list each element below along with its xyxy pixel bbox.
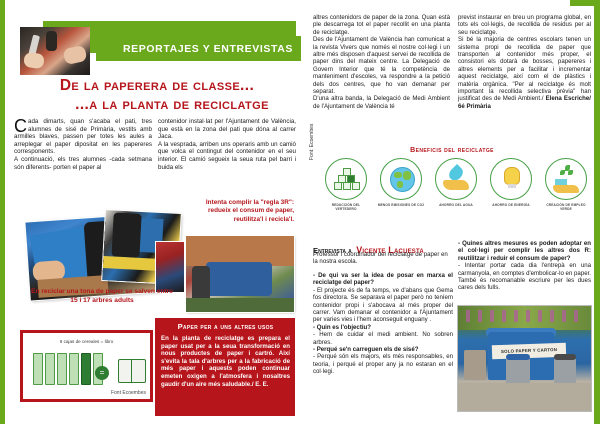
article-column-3: altres contenidors de paper de la zona. … xyxy=(313,14,450,110)
bulb-shape xyxy=(504,167,520,185)
waste-bin-shape xyxy=(506,358,530,384)
interview-question: - Quines altres mesures es poden adoptar… xyxy=(458,240,591,262)
leaf-shape xyxy=(568,170,573,175)
title-line-2: ...a la planta de reciclatge xyxy=(52,95,292,114)
red-box-title: Paper per a uns altres usos xyxy=(161,322,290,331)
article-col2-p1: contenidor instal·lat per l'Ajuntament d… xyxy=(158,118,296,141)
infographic-label: AHORRO DE ENERGÍA xyxy=(487,203,535,207)
plant-shape xyxy=(560,165,573,179)
photo-paper-container xyxy=(186,236,294,312)
crate-icon xyxy=(352,182,360,190)
hand-shape-2 xyxy=(23,52,45,70)
landfill-stack-icon xyxy=(325,158,367,200)
article-column-2: contenidor instal·lat per l'Ajuntament d… xyxy=(158,118,296,171)
red-info-box: Paper per a uns altres usos En la planta… xyxy=(155,318,295,416)
infographic-item: MENOS EMISIONES DE CO2 xyxy=(377,158,425,207)
infographic-item: AHORRO DEL AGUA xyxy=(432,158,480,207)
hand-shape xyxy=(553,185,579,193)
photo-caption: En reciclar una tona de paper se salven … xyxy=(28,287,176,305)
cereal-box-icon xyxy=(45,353,55,385)
page-title: De la paperera de classe... ...a la plan… xyxy=(22,76,292,114)
article-column-1: Cada dimarts, quan s'acaba el pati, tres… xyxy=(14,118,152,171)
infographic-label: MENOS EMISIONES DE CO2 xyxy=(377,203,425,207)
interview-answer: - El projecte és de fa temps, ve d'abans… xyxy=(313,287,453,324)
article-col3-p1: altres contenidors de paper de la zona. … xyxy=(313,14,450,36)
water-drop-hand-icon xyxy=(435,158,477,200)
globe-icon xyxy=(380,158,422,200)
plant-hand-icon xyxy=(545,158,587,200)
infographic-source: Font: Ecoembes xyxy=(309,102,315,160)
interview-subtitle: Professor i coordinador del reciclatge d… xyxy=(313,251,453,266)
article-col3-p2: Des de l'Ajuntament de València han comu… xyxy=(313,36,450,95)
infographic-items: REDUCCIÓN DEL VERTEDERO MENOS EMISIONES … xyxy=(322,158,590,220)
article-paragraph: Cada dimarts, quan s'acaba el pati, tres… xyxy=(14,118,152,156)
infographic-item: REDUCCIÓN DEL VERTEDERO xyxy=(322,158,370,211)
title-line-1: De la paperera de classe... xyxy=(22,76,292,95)
stack-shape xyxy=(334,168,358,190)
interview-question: - Perqué se'n carreguen els de sisé? xyxy=(313,346,453,353)
hand-shape xyxy=(63,45,88,65)
interview-question: - De qui va ser la idea de posar en marx… xyxy=(313,272,453,287)
cereal-box-icon xyxy=(69,353,79,385)
interview-qa-left: - De qui va ser la idea de posar en marx… xyxy=(313,272,453,376)
infographic-label: CREACIÓN DE EMPLEO VERDE xyxy=(542,203,590,211)
infographic-label: REDUCCIÓN DEL VERTEDERO xyxy=(322,203,370,211)
infographic-title: Beneficis del reciclatge xyxy=(313,147,591,154)
book-icon xyxy=(118,359,146,381)
infographic-label: AHORRO DEL AGUA xyxy=(432,203,480,207)
ground-shape xyxy=(186,298,294,312)
bin-lid-shape xyxy=(506,354,530,360)
article-col1-p2: A continuació, els tres alumnes -cada se… xyxy=(14,156,152,171)
header-photo-microphones xyxy=(20,27,90,75)
infographic-item: CREACIÓN DE EMPLEO VERDE xyxy=(542,158,590,211)
book-page-right xyxy=(131,359,146,383)
lightbulb-icon xyxy=(490,158,532,200)
crate-icon xyxy=(343,182,351,190)
photo-recycling-bins: SOLO PAPER Y CARTON xyxy=(458,306,591,411)
equals-icon: = xyxy=(95,366,109,380)
ground-shape xyxy=(458,383,591,411)
red-box-text: En la planta de reciclatge es prepara el… xyxy=(161,335,290,388)
cereal-box-icon xyxy=(57,353,67,385)
globe-shape xyxy=(390,167,415,192)
interview-answer: - Intentar portar cada dia l'entrepà en … xyxy=(458,262,591,291)
drop-cap: C xyxy=(14,118,28,133)
yellow-band-shape xyxy=(103,256,164,271)
waste-bin-shape xyxy=(554,358,576,384)
left-green-edge xyxy=(0,0,5,424)
leaf-shape xyxy=(560,170,565,175)
interview-answer: - Hem de cuidar el medi ambient. No sobr… xyxy=(313,331,453,346)
flowers-shape xyxy=(466,310,584,322)
article-col2-p2: A la vesprada, arriben uns operaris amb … xyxy=(158,141,296,171)
waste-bin-shape xyxy=(464,350,486,380)
bulb-base xyxy=(508,184,516,188)
infographic-item: AHORRO DE ENERGÍA xyxy=(487,158,535,207)
recorder-icon xyxy=(46,31,57,51)
photo-strip xyxy=(156,242,184,292)
ecoembes-illustration-box: 6 cajas de cereales = libro = Font Ecoem… xyxy=(20,330,153,402)
article-col1-p1: ada dimarts, quan s'acaba el pati, tres … xyxy=(14,118,152,155)
bin-lid-shape xyxy=(554,354,576,360)
article-col3-p3: D'una altra banda, la Delegació de Medi … xyxy=(313,95,450,110)
cereal-box-icon xyxy=(33,353,43,385)
right-green-edge xyxy=(594,0,600,424)
hand-shape xyxy=(443,180,469,190)
continent-shape xyxy=(403,171,411,180)
top-right-green-edge xyxy=(570,0,600,6)
ecoembes-source: Font Ecoembes xyxy=(111,390,146,396)
section-label: REPORTAJES Y ENTREVISTAS xyxy=(123,43,301,55)
interview-answer: - Perqué són els majors, els més respons… xyxy=(313,353,453,375)
interview-qa-right: - Quines altres mesures es poden adoptar… xyxy=(458,240,591,292)
article-column-4: previst instaurar en breu un programa gl… xyxy=(458,14,591,110)
tip-3r-text: Intenta complir la "regla 3R": redueix e… xyxy=(182,199,294,224)
continent-shape xyxy=(394,172,402,178)
section-header-label-bar: REPORTAJES Y ENTREVISTAS xyxy=(96,36,301,61)
crate-icon xyxy=(334,182,342,190)
ecoembes-caption: 6 cajas de cereales = libro xyxy=(23,339,150,344)
article-col4-p2: Si bé la majoria de centres escolars ten… xyxy=(458,36,591,110)
article-col4-p2-text: Si bé la majoria de centres escolars ten… xyxy=(458,36,591,102)
continent-shape xyxy=(397,181,403,188)
container-shape xyxy=(206,262,272,296)
cereal-boxes-group xyxy=(33,353,103,385)
article-col4-p1: previst instaurar en breu un programa gl… xyxy=(458,14,591,36)
cereal-box-icon xyxy=(81,353,91,385)
interview-question: - Quin es l'objectiu? xyxy=(313,324,453,331)
person-shape xyxy=(111,213,141,258)
magazine-page: REPORTAJES Y ENTREVISTAS De la paperera … xyxy=(0,0,600,424)
